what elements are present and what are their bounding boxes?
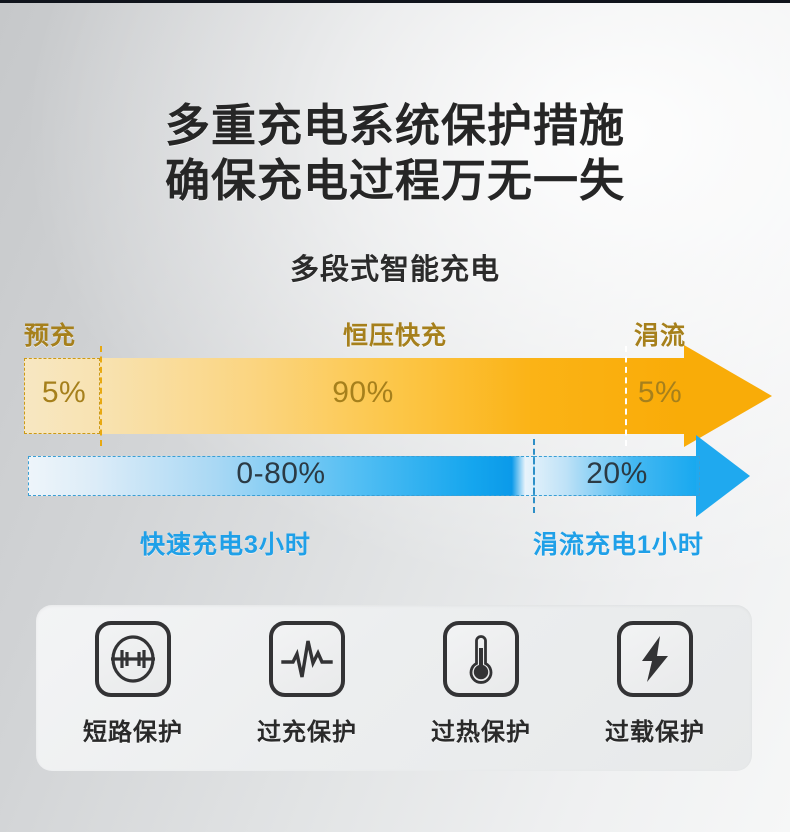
lightning-bolt-icon-box: [617, 621, 693, 697]
protection-item-short-circuit: 短路保护: [53, 621, 213, 747]
protection-label-overcharge: 过充保护: [257, 712, 357, 747]
trickle-charge-duration-note: 涓流充电1小时: [533, 525, 704, 561]
blue-arrow-head-icon: [696, 435, 750, 517]
page-title-line2: 确保充电过程万无一失: [0, 155, 790, 207]
constant-voltage-percent: 90%: [104, 376, 622, 410]
protection-label-short-circuit: 短路保护: [83, 712, 183, 747]
waveform-icon-box: [269, 621, 345, 697]
fast-charge-duration-note: 快速充电3小时: [140, 525, 311, 561]
protection-item-overload: 过载保护: [575, 621, 735, 747]
stage-label-trickle: 涓流: [634, 316, 686, 352]
waveform-icon: [279, 631, 335, 687]
precharge-percent: 5%: [32, 376, 96, 410]
fast-charge-percent: 0-80%: [28, 457, 534, 491]
protection-features-row: 短路保护 过充保护 过热保护: [36, 605, 752, 771]
trickle-divider: [625, 346, 627, 446]
orange-charging-stage-bar: 5% 90% 5%: [24, 358, 772, 434]
blue-charging-time-bar: 0-80% 20%: [28, 456, 750, 496]
short-circuit-icon-box: [95, 621, 171, 697]
protection-item-overcharge: 过充保护: [227, 621, 387, 747]
top-edge-strip: [0, 0, 790, 3]
page-title-line1: 多重充电系统保护措施: [0, 100, 790, 152]
thermometer-icon: [453, 631, 509, 687]
precharge-divider: [100, 346, 102, 446]
trickle-charge-percent: 20%: [534, 457, 700, 491]
short-circuit-icon: [105, 631, 161, 687]
protection-item-overheat: 过热保护: [401, 621, 561, 747]
thermometer-icon-box: [443, 621, 519, 697]
protection-label-overload: 过载保护: [605, 712, 705, 747]
orange-arrow-head-icon: [684, 345, 772, 447]
page-root: 多重充电系统保护措施 确保充电过程万无一失 多段式智能充电 预充 恒压快充 涓流…: [0, 0, 790, 832]
lightning-bolt-icon: [627, 631, 683, 687]
protection-label-overheat: 过热保护: [431, 712, 531, 747]
trickle-percent: 5%: [630, 376, 690, 410]
section-subtitle: 多段式智能充电: [0, 252, 790, 288]
protection-features-card: 短路保护 过充保护 过热保护: [36, 605, 752, 771]
